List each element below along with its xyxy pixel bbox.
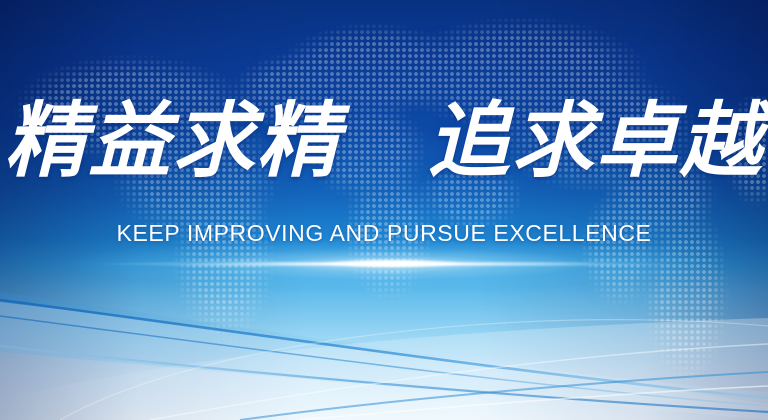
swoosh-curves xyxy=(0,0,768,420)
subtitle-text: KEEP IMPROVING AND PURSUE EXCELLENCE xyxy=(0,219,768,247)
headline-calligraphy: 精益求精 追求卓越 xyxy=(0,86,768,196)
headline-phrase-2: 追求卓越 xyxy=(428,93,764,189)
corporate-banner: 精益求精 追求卓越 KEEP IMPROVING AND PURSUE EXCE… xyxy=(0,0,768,420)
headline-phrase-1: 精益求精 xyxy=(4,93,340,189)
